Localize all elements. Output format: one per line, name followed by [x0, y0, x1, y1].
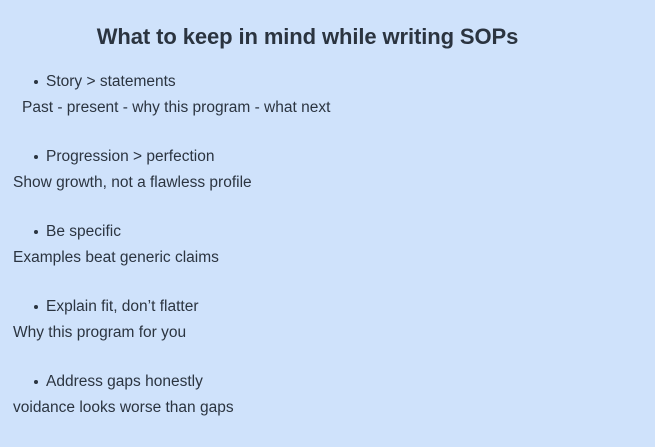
- list-item: Story > statements Past - present - why …: [0, 72, 655, 147]
- bullet-subtext: Past - present - why this program - what…: [0, 98, 655, 118]
- bullet-line: Be specific: [0, 222, 655, 242]
- bullet-subtext: Examples beat generic claims: [0, 248, 655, 268]
- bullet-subtext: Show growth, not a flawless profile: [0, 173, 655, 193]
- bullet-dot-icon: [34, 305, 38, 309]
- bullet-label: Story > statements: [46, 73, 176, 90]
- bullet-label: Progression > perfection: [46, 148, 214, 165]
- bullet-dot-icon: [34, 80, 38, 84]
- page-title: What to keep in mind while writing SOPs: [0, 24, 655, 50]
- bullet-subtext: voidance looks worse than gaps: [0, 398, 655, 418]
- list-item: Progression > perfection Show growth, no…: [0, 147, 655, 222]
- bullet-label: Be specific: [46, 223, 121, 240]
- list-item: Be specific Examples beat generic claims: [0, 222, 655, 297]
- bullet-line: Progression > perfection: [0, 147, 655, 167]
- bullet-subtext: Why this program for you: [0, 323, 655, 343]
- bullet-label: Address gaps honestly: [46, 373, 203, 390]
- bullet-dot-icon: [34, 155, 38, 159]
- bullet-line: Address gaps honestly: [0, 372, 655, 392]
- bullet-line: Explain fit, don’t flatter: [0, 297, 655, 317]
- bullet-dot-icon: [34, 380, 38, 384]
- bullet-list: Story > statements Past - present - why …: [0, 72, 655, 447]
- slide-canvas: What to keep in mind while writing SOPs …: [0, 0, 655, 437]
- list-item: Explain fit, don’t flatter Why this prog…: [0, 297, 655, 372]
- bullet-line: Story > statements: [0, 72, 655, 92]
- list-item: Address gaps honestly voidance looks wor…: [0, 372, 655, 447]
- bullet-dot-icon: [34, 230, 38, 234]
- bullet-label: Explain fit, don’t flatter: [46, 298, 199, 315]
